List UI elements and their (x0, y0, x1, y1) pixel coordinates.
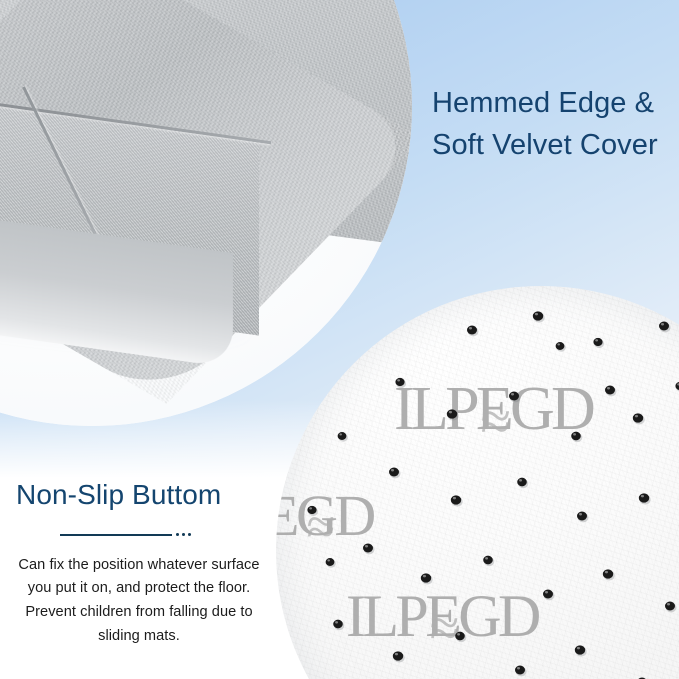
mat-dot (675, 382, 679, 392)
product-feature-image: ILPEGD≈ EGD≈ ILPEGD≈ Hemmed Edge & Soft … (0, 0, 679, 679)
mat-dot (665, 602, 676, 613)
feature-heading-left: Non-Slip Buttom (8, 478, 270, 512)
heading-right-line-2: Soft Velvet Cover (432, 124, 679, 166)
heading-right-line-1: Hemmed Edge & (432, 82, 679, 124)
mat-dot (639, 493, 651, 504)
mat-dot (467, 326, 478, 337)
mat-dot (483, 556, 494, 566)
mat-dot (307, 506, 318, 516)
mat-dot (389, 468, 400, 479)
mat-dot (517, 478, 528, 488)
mat-dot (363, 544, 374, 555)
divider (8, 524, 270, 546)
mat-dot (533, 311, 545, 322)
mat-dot (395, 378, 406, 388)
mat-dot (338, 432, 348, 442)
mat-dot (509, 392, 520, 403)
non-slip-mat-photo: ILPEGD≈ EGD≈ ILPEGD≈ (276, 286, 679, 679)
mat-dot (333, 620, 344, 630)
divider-dots (176, 533, 191, 536)
mat-dot (451, 495, 463, 506)
mat-dot (605, 386, 616, 397)
body-line-1: Can fix the position whatever surface (8, 554, 270, 578)
divider-dot (182, 533, 185, 536)
feature-body-left: Can fix the position whatever surface yo… (8, 554, 270, 649)
mat-dot (633, 413, 645, 424)
mat-dot (577, 512, 588, 523)
mat-dot (455, 632, 466, 642)
mat-dot (593, 338, 604, 348)
feature-block-left: Non-Slip Buttom Can fix the position wha… (8, 478, 270, 648)
mat-dot (603, 569, 615, 580)
divider-dot (188, 533, 191, 536)
body-line-2: you put it on, and protect the floor. (8, 577, 270, 601)
mat-dot (659, 322, 670, 333)
body-line-4: sliding mats. (8, 625, 270, 649)
divider-dot (176, 533, 179, 536)
mat-dot (543, 590, 554, 601)
mat-dot (556, 342, 566, 352)
mat-silicone-dots (276, 286, 679, 679)
mat-dot (393, 651, 405, 662)
mat-dot (575, 645, 587, 656)
mat-dot (421, 573, 433, 584)
mat-dot (326, 558, 336, 568)
mat-dot (571, 432, 582, 442)
body-line-3: Prevent children from falling due to (8, 601, 270, 625)
feature-heading-right: Hemmed Edge & Soft Velvet Cover (432, 82, 679, 166)
divider-line (60, 534, 172, 536)
mat-dot (515, 666, 526, 677)
mat-dot (447, 409, 459, 420)
